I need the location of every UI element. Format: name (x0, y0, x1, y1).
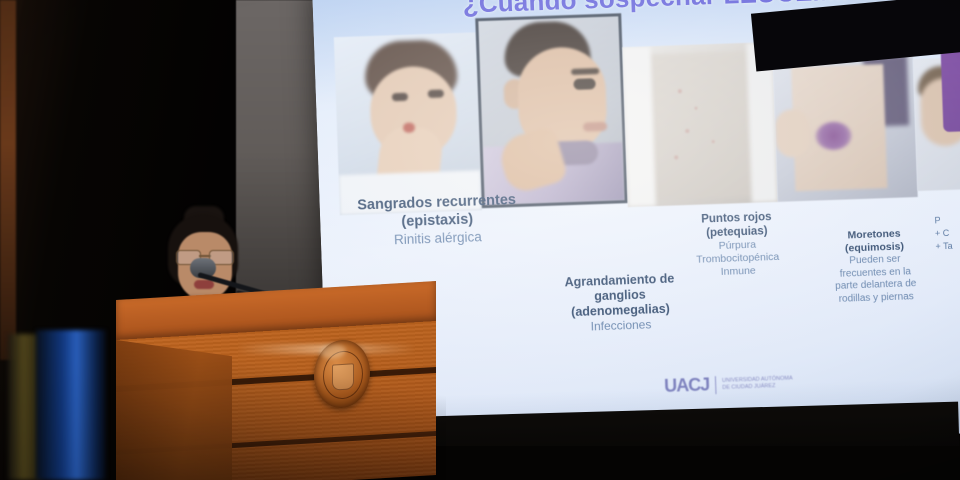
caption-petequias: Puntos rojos (petequias) Púrpura Tromboc… (674, 209, 800, 280)
photo-scene: ¿Cuándo sospechar LEUCEMIA? (0, 0, 960, 480)
caption-partial-line3: + Ta (935, 238, 960, 253)
wooden-podium (116, 300, 436, 480)
speaker-lips (194, 280, 214, 289)
stage-curtain-blue (36, 330, 106, 480)
photo-equimosis (773, 49, 918, 202)
caption-partial-line2: + C (935, 225, 960, 240)
left-wall-edge (0, 0, 16, 360)
caption-partial-line1: P (934, 212, 960, 227)
caption-partial: P + C + Ta (934, 212, 960, 253)
caption-equimosis: Moretones (equimosis) Pueden ser frecuen… (815, 226, 936, 306)
photo-epistaxis (334, 32, 482, 215)
podium-side-face (116, 340, 232, 480)
photo-petequias (622, 42, 777, 207)
caption-epistaxis: Sangrados recurrentes (epistaxis) Riniti… (333, 190, 541, 250)
caption-adenomegalias: Agrandamiento de ganglios (adenomegalias… (536, 271, 704, 337)
photo-adenomegalias (475, 13, 628, 208)
